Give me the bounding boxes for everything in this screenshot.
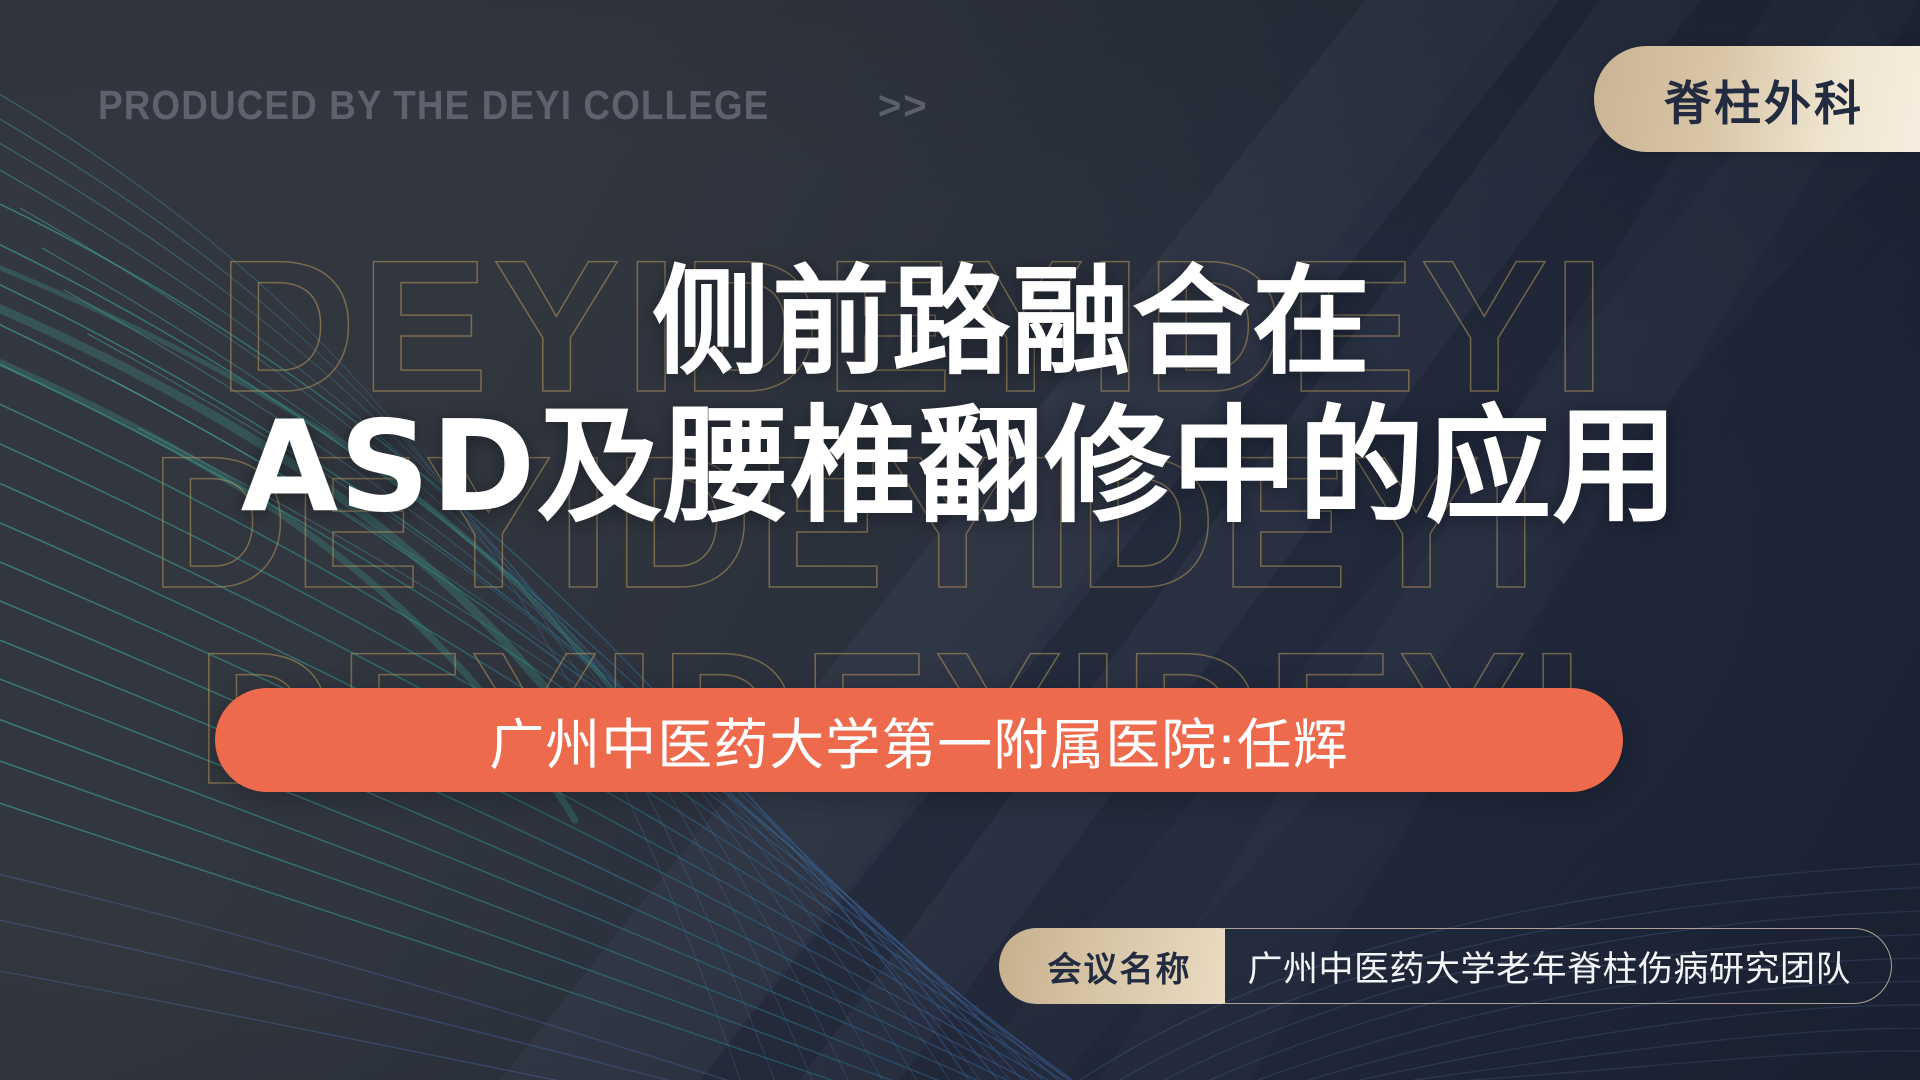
kicker-label: PRODUCED BY THE DEYI COLLEGE	[98, 82, 769, 129]
presenter-label: 广州中医药大学第一附属医院:任辉	[489, 700, 1349, 780]
department-badge: 脊柱外科	[1594, 46, 1920, 152]
conference-name-tag: 会议名称	[999, 928, 1225, 1004]
kicker: PRODUCED BY THE DEYI COLLEGE >>	[98, 82, 929, 129]
presenter-pill: 广州中医药大学第一附属医院:任辉	[215, 688, 1623, 792]
slide-canvas: DEYIDEYIDEYI DEYIDEYIDEYI DEYIDEYIDEYI P…	[0, 0, 1920, 1080]
department-badge-label: 脊柱外科	[1664, 65, 1864, 134]
conference-name-label: 广州中医药大学老年脊柱伤病研究团队	[1247, 941, 1851, 992]
chevron-double-right-icon: >>	[878, 84, 929, 129]
conference-name-tag-label: 会议名称	[1047, 942, 1191, 991]
footer: 会议名称 广州中医药大学老年脊柱伤病研究团队	[999, 928, 1892, 1004]
page-title: 侧前路融合在 ASD及腰椎翻修中的应用	[0, 252, 1920, 542]
conference-name-box: 广州中医药大学老年脊柱伤病研究团队	[1221, 928, 1892, 1004]
title-line-2: ASD及腰椎翻修中的应用	[0, 392, 1920, 542]
title-line-1: 侧前路融合在	[104, 252, 1920, 392]
